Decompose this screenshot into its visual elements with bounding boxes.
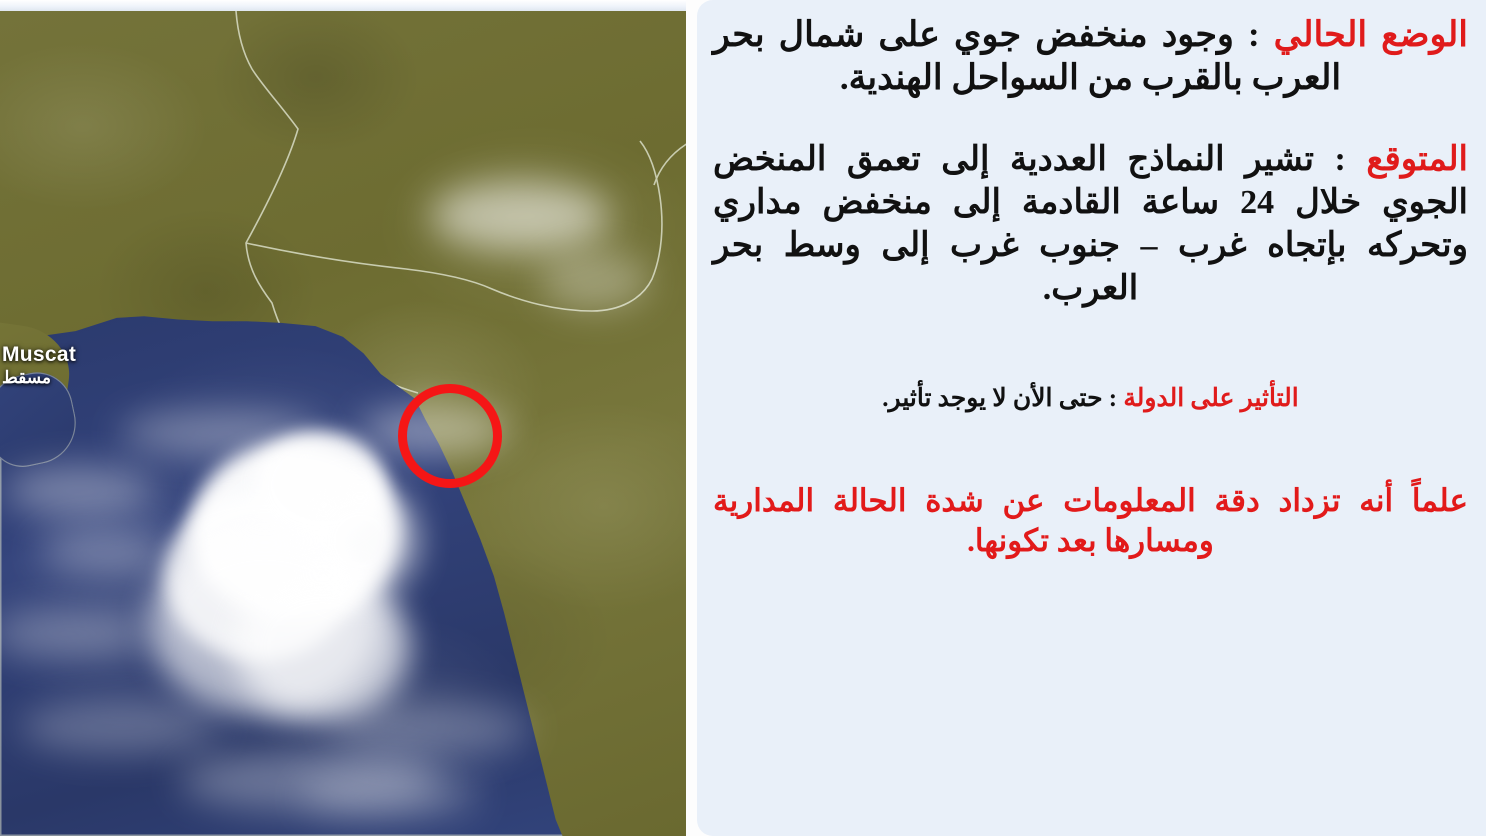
city-label-english: Muscat [2,343,76,367]
current-situation-label: الوضع الحالي [1274,15,1468,54]
forecast-separator: : [1314,141,1366,178]
red-annotation-circle [398,384,502,488]
impact-paragraph: التأثير على الدولة : حتى الأن لا يوجد تأ… [713,383,1468,416]
current-situation-separator: : [1234,15,1274,54]
weather-bulletin-panel: الوضع الحالي : وجود منخفض جوي على شمال ب… [697,0,1486,836]
forecast-label: المتوقع [1366,141,1468,178]
cloud-band-se [330,701,530,756]
advisory-note-paragraph: علماً أنه تزداد دقة المعلومات عن شدة الح… [713,481,1468,562]
cloud-band-n [120,411,320,455]
cloud-patch-inland-e [540,251,650,311]
impact-label: التأثير على الدولة [1123,385,1298,412]
impact-separator: : [1103,385,1124,412]
forecast-paragraph: المتوقع : تشير النماذج العددية إلى تعمق … [713,139,1468,310]
cloud-mass-east [300,481,420,601]
impact-body: حتى الأن لا يوجد تأثير. [882,385,1102,412]
city-label-muscat: Muscat مسقط [2,343,76,387]
map-canvas: Muscat مسقط [0,11,686,836]
satellite-map-panel: Muscat مسقط [0,0,686,836]
cloud-patch-inland-n [430,181,610,251]
city-label-arabic: مسقط [2,368,76,387]
cloud-band-w1 [40,531,170,573]
cloud-band-s2 [300,771,480,821]
map-top-strip [0,0,686,11]
bulletin-graphic: Muscat مسقط الوضع الحالي : وجود منخفض جو… [0,0,1486,836]
cloud-band-nw [5,466,155,516]
cloud-band-sw [20,701,220,753]
current-situation-paragraph: الوضع الحالي : وجود منخفض جوي على شمال ب… [713,14,1468,99]
